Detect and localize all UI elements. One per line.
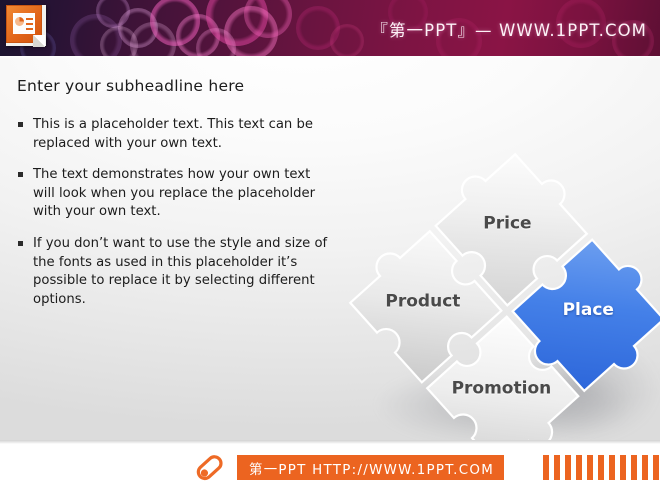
- pen-icon: [193, 452, 227, 484]
- footer-stripe: [620, 455, 626, 480]
- bokeh-circle: [330, 24, 364, 56]
- bokeh-circle: [196, 28, 236, 56]
- presentation-slide: 『第一PPT』— WWW.1PPT.COM Enter your subhead…: [0, 0, 660, 495]
- footer-stripe: [554, 455, 560, 480]
- bullet-marker-icon: [18, 172, 23, 177]
- footer-stripe: [598, 455, 604, 480]
- bullet-list: This is a placeholder text. This text ca…: [17, 116, 335, 322]
- footer-bar: 第一PPT HTTP://WWW.1PPT.COM: [0, 440, 660, 495]
- list-item: The text demonstrates how your own text …: [17, 166, 335, 222]
- footer-url-bar[interactable]: 第一PPT HTTP://WWW.1PPT.COM: [237, 455, 504, 480]
- subheadline-text: Enter your subheadline here: [17, 77, 244, 95]
- footer-stripe: [565, 455, 571, 480]
- bokeh-circle: [118, 8, 158, 48]
- bokeh-circle: [130, 22, 176, 56]
- bullet-text: The text demonstrates how your own text …: [33, 167, 315, 219]
- footer-stripe: [576, 455, 582, 480]
- bokeh-circle: [96, 0, 130, 28]
- powerpoint-logo-icon: [6, 5, 50, 50]
- bokeh-circle: [296, 6, 340, 50]
- bokeh-circle: [224, 6, 278, 56]
- bullet-text: If you don’t want to use the style and s…: [33, 236, 327, 307]
- list-item: This is a placeholder text. This text ca…: [17, 116, 335, 153]
- list-item: If you don’t want to use the style and s…: [17, 235, 335, 309]
- bokeh-circle: [100, 26, 138, 56]
- bullet-marker-icon: [18, 241, 23, 246]
- slide-body: Enter your subheadline here This is a pl…: [0, 56, 660, 440]
- bokeh-circle: [150, 0, 200, 46]
- bokeh-circle: [206, 0, 268, 46]
- header-title: 『第一PPT』— WWW.1PPT.COM: [371, 17, 647, 41]
- puzzle-graphic: Price Product: [340, 160, 660, 480]
- bokeh-circle: [244, 0, 292, 38]
- footer-url-text: 第一PPT HTTP://WWW.1PPT.COM: [249, 458, 494, 478]
- bokeh-circle: [70, 14, 122, 56]
- bullet-text: This is a placeholder text. This text ca…: [33, 117, 313, 151]
- footer-stripe: [609, 455, 615, 480]
- footer-stripe: [543, 455, 549, 480]
- bullet-marker-icon: [18, 122, 23, 127]
- footer-stripes-decoration: [543, 455, 660, 480]
- footer-stripe: [631, 455, 637, 480]
- header-banner: 『第一PPT』— WWW.1PPT.COM: [0, 0, 660, 56]
- footer-stripe: [587, 455, 593, 480]
- footer-stripe: [642, 455, 648, 480]
- footer-stripe: [653, 455, 659, 480]
- bokeh-circle: [176, 14, 220, 56]
